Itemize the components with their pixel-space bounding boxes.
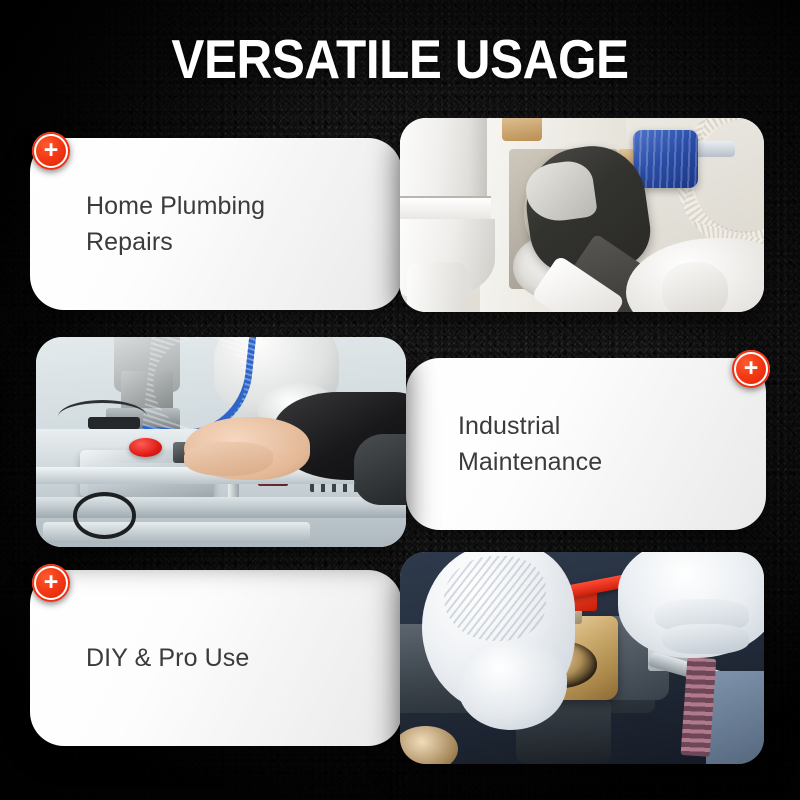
ball-valve-scene: [400, 552, 764, 764]
plus-icon: +: [44, 570, 59, 595]
feature-card-diy-pro-use[interactable]: DIY & Pro Use: [30, 570, 402, 746]
feature-image-industrial-maintenance: [36, 337, 406, 547]
feature-card-home-plumbing-repairs[interactable]: Home Plumbing Repairs: [30, 138, 402, 310]
feature-label-industrial-maintenance: Industrial Maintenance: [458, 408, 602, 480]
industrial-scene: [36, 337, 406, 547]
feature-image-diy-pro-use: [400, 552, 764, 764]
versatile-usage-poster: VERSATILE USAGE: [0, 0, 800, 800]
feature-card-industrial-maintenance[interactable]: Industrial Maintenance: [406, 358, 766, 530]
feature-image-home-plumbing-repairs: [400, 118, 764, 312]
feature-label-diy-pro-use: DIY & Pro Use: [86, 640, 249, 676]
plus-badge-home-plumbing-repairs[interactable]: +: [32, 132, 70, 170]
plus-badge-industrial-maintenance[interactable]: +: [732, 350, 770, 388]
feature-label-home-plumbing-repairs: Home Plumbing Repairs: [86, 188, 265, 260]
red-button: [129, 438, 162, 457]
plus-badge-diy-pro-use[interactable]: +: [32, 564, 70, 602]
plus-icon: +: [44, 138, 59, 163]
plumbing-scene: [400, 118, 764, 312]
plus-icon: +: [744, 356, 759, 381]
